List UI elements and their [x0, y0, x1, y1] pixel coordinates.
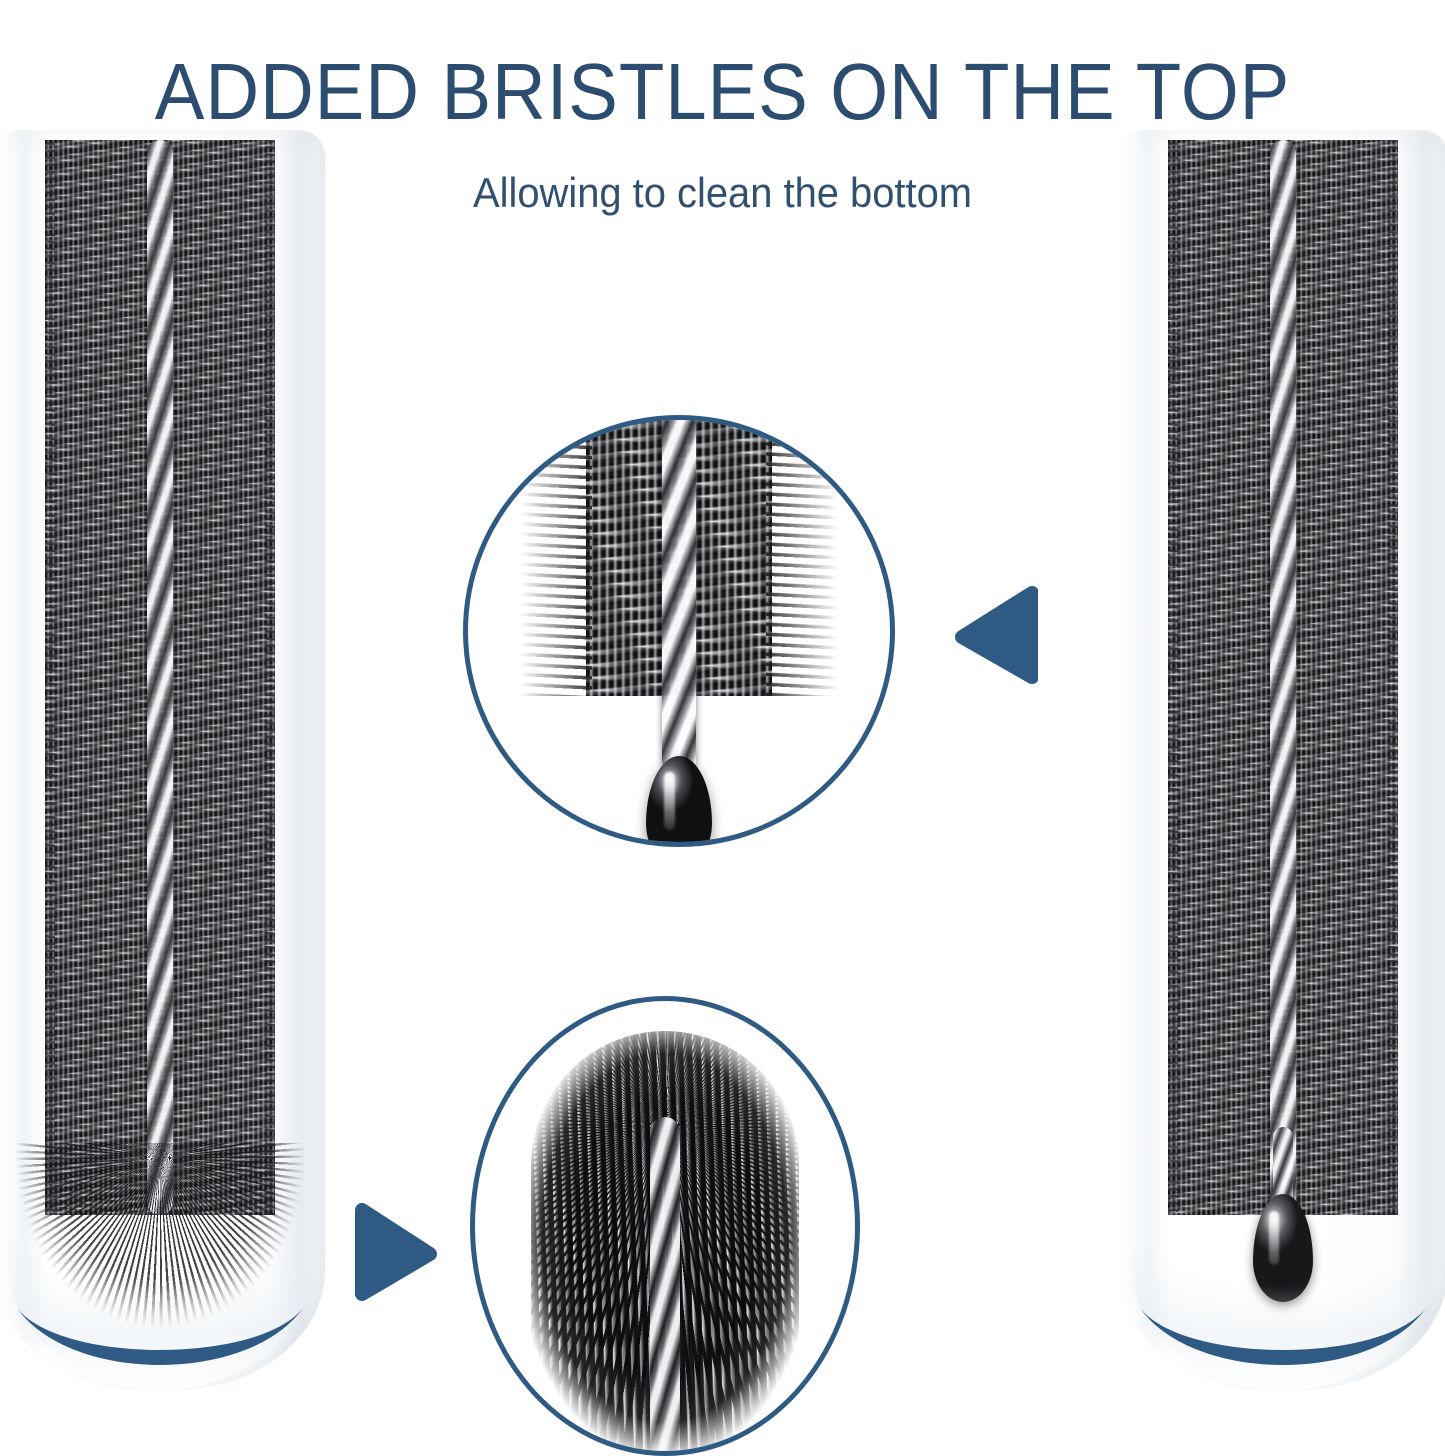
twisted-wire-core-icon [1270, 140, 1296, 1215]
callout-circle-bristle-head [470, 996, 860, 1456]
brush-body-right [1168, 140, 1398, 1215]
teardrop-end-cap-icon [1253, 1194, 1313, 1302]
bristle-fringe-left-icon [520, 420, 592, 696]
triangle-right-icon [352, 1200, 438, 1304]
bristle-fringe-right-icon [265, 140, 275, 1215]
bristle-fringe-left-icon [1168, 140, 1178, 1215]
callout-bottom-content [475, 1001, 855, 1451]
page-title: ADDED BRISTLES ON THE TOP [51, 52, 1395, 132]
page-subtitle: Allowing to clean the bottom [36, 172, 1409, 214]
bristle-fringe-left-icon [45, 140, 55, 1215]
product-image-right [1118, 130, 1445, 1390]
callout-circle-brush-tip [463, 415, 895, 847]
bristle-head-closeup-icon [531, 1031, 799, 1451]
brush-body-left [45, 140, 275, 1215]
callout-top-content [468, 420, 890, 842]
crescent-arc-left-icon [11, 1288, 309, 1384]
twisted-wire-core-icon [650, 1117, 680, 1451]
twisted-wire-core-icon [662, 420, 696, 776]
triangle-left-icon [952, 583, 1038, 687]
crescent-arc-right-icon [1134, 1288, 1432, 1384]
teardrop-end-cap-icon [646, 756, 712, 842]
infographic-canvas: ADDED BRISTLES ON THE TOP Allowing to cl… [0, 0, 1445, 1456]
clear-tube-right [1118, 130, 1445, 1390]
clear-tube-left [0, 130, 325, 1390]
twisted-wire-core-icon [147, 140, 173, 1215]
bristle-fringe-right-icon [1388, 140, 1398, 1215]
brush-tip-closeup-icon [586, 420, 772, 842]
bristle-fringe-right-icon [766, 420, 838, 696]
product-image-left [0, 130, 325, 1390]
